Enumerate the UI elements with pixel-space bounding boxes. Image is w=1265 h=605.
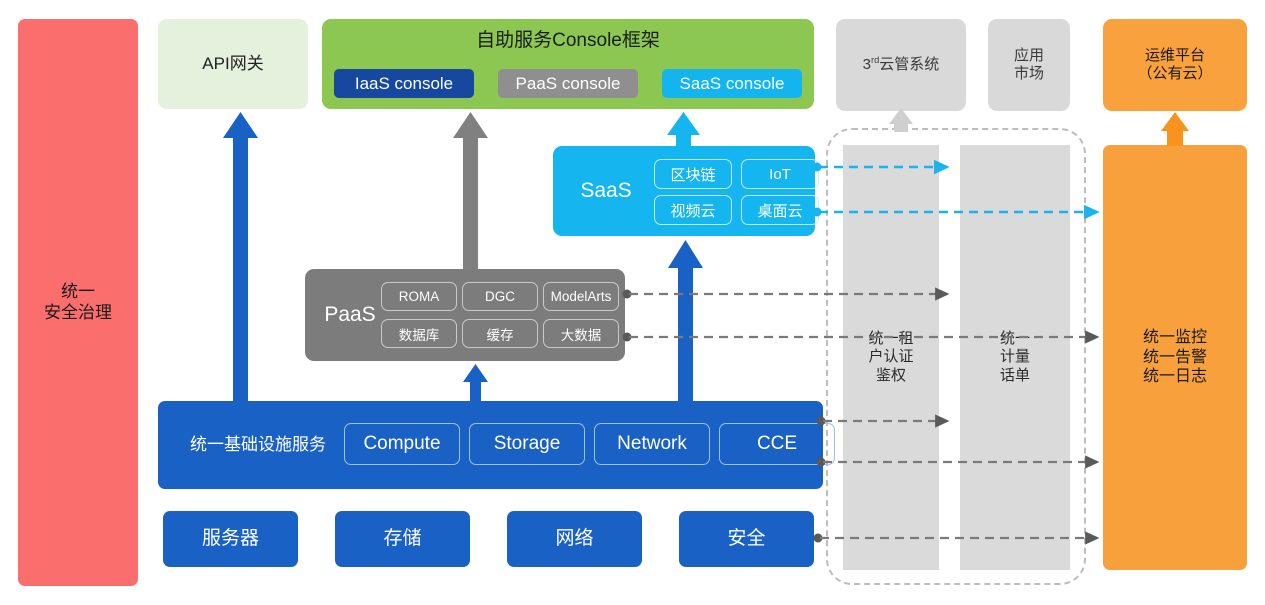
arrow-paas-to-console xyxy=(453,112,488,270)
paas-chip-dgc[interactable]: DGC xyxy=(462,282,538,311)
infra-chip-storage[interactable]: Storage xyxy=(469,423,585,465)
metering-line1: 统一 xyxy=(1000,330,1030,348)
arrow-infra-to-saas xyxy=(668,240,703,402)
paas-chip-bigdata[interactable]: 大数据 xyxy=(543,319,619,348)
saas-chip-desktop-cloud[interactable]: 桌面云 xyxy=(741,195,819,225)
infra-chip-storage-label: Storage xyxy=(494,433,561,455)
third-party-cloud-mgmt-box[interactable]: 3rd云管系统 xyxy=(836,19,966,111)
saas-layer-label: SaaS xyxy=(580,178,631,204)
paas-chip-roma-label: ROMA xyxy=(399,289,440,304)
api-gateway-label: API网关 xyxy=(202,54,263,75)
arrow-infra-to-api-gateway xyxy=(223,112,258,402)
paas-console-label: PaaS console xyxy=(516,74,621,94)
paas-layer-label: PaaS xyxy=(324,302,375,328)
iaas-console-button[interactable]: IaaS console xyxy=(334,69,474,98)
resource-box-server-label: 服务器 xyxy=(202,527,259,550)
paas-chip-roma[interactable]: ROMA xyxy=(381,282,457,311)
arrow-ops-panel-to-ops-platform xyxy=(1161,112,1189,146)
saas-chip-blockchain-label: 区块链 xyxy=(670,164,715,185)
paas-chip-modelarts[interactable]: ModelArts xyxy=(543,282,619,311)
resource-box-storage[interactable]: 存储 xyxy=(335,511,470,567)
infra-chip-cce-label: CCE xyxy=(757,433,797,455)
metering-line3: 话单 xyxy=(1000,367,1030,385)
third-party-cloud-mgmt-label: 3rd云管系统 xyxy=(863,55,940,74)
app-market-line2: 市场 xyxy=(1014,65,1044,83)
ops-platform-line2: （公有云） xyxy=(1137,65,1212,83)
resource-box-security-label: 安全 xyxy=(727,527,765,550)
resource-box-network-label: 网络 xyxy=(555,527,593,550)
security-panel-line1: 统一 xyxy=(44,282,112,303)
ops-platform-public-cloud-box[interactable]: 运维平台 （公有云） xyxy=(1103,19,1247,111)
iaas-console-label: IaaS console xyxy=(355,74,453,94)
tenant-auth-line2: 户认证 xyxy=(868,348,913,366)
tenant-auth-line1: 统一租 xyxy=(868,330,913,348)
paas-chip-modelarts-label: ModelArts xyxy=(551,289,612,304)
app-market-line1: 应用 xyxy=(1014,47,1044,65)
ops-platform-line1: 运维平台 xyxy=(1137,47,1212,65)
self-service-console-frame: 自助服务Console框架 IaaS console PaaS console … xyxy=(322,19,814,109)
security-panel-line2: 安全治理 xyxy=(44,303,112,324)
paas-chip-database[interactable]: 数据库 xyxy=(381,319,457,348)
ops-panel-line3: 统一日志 xyxy=(1143,367,1207,387)
paas-console-button[interactable]: PaaS console xyxy=(498,69,638,98)
app-market-box[interactable]: 应用 市场 xyxy=(988,19,1070,111)
saas-chip-blockchain[interactable]: 区块链 xyxy=(654,159,732,189)
saas-chip-iot[interactable]: IoT xyxy=(741,159,819,189)
infra-chip-cce[interactable]: CCE xyxy=(719,423,835,465)
paas-layer: PaaS ROMA DGC ModelArts 数据库 缓存 大数据 xyxy=(305,269,625,361)
paas-chip-database-label: 数据库 xyxy=(399,324,440,344)
infra-chip-compute-label: Compute xyxy=(363,433,440,455)
saas-chip-video-cloud[interactable]: 视频云 xyxy=(654,195,732,225)
unified-metering-billing-column: 统一 计量 话单 xyxy=(960,145,1070,570)
saas-chip-iot-label: IoT xyxy=(769,166,791,183)
resource-box-server[interactable]: 服务器 xyxy=(163,511,298,567)
resource-box-network[interactable]: 网络 xyxy=(507,511,642,567)
unified-infrastructure-service-layer: 统一基础设施服务 Compute Storage Network CCE xyxy=(158,401,823,489)
saas-console-label: SaaS console xyxy=(680,74,785,94)
ops-panel-line2: 统一告警 xyxy=(1143,348,1207,368)
console-frame-title: 自助服务Console框架 xyxy=(476,29,660,52)
paas-chip-bigdata-label: 大数据 xyxy=(561,324,602,344)
paas-chip-cache-label: 缓存 xyxy=(487,324,514,344)
ops-panel-line1: 统一监控 xyxy=(1143,328,1207,348)
saas-layer: SaaS 区块链 IoT 视频云 桌面云 xyxy=(553,146,815,236)
unified-ops-panel: 统一监控 统一告警 统一日志 xyxy=(1103,145,1247,570)
metering-line2: 计量 xyxy=(1000,348,1030,366)
infra-chip-compute[interactable]: Compute xyxy=(344,423,460,465)
infra-chip-network[interactable]: Network xyxy=(594,423,710,465)
arrow-saas-to-console xyxy=(667,112,700,148)
infra-chip-network-label: Network xyxy=(617,433,687,455)
saas-chip-desktop-cloud-label: 桌面云 xyxy=(757,200,802,221)
arrow-infra-to-paas xyxy=(463,364,488,402)
infra-layer-label: 统一基础设施服务 xyxy=(190,435,326,456)
tenant-auth-line3: 鉴权 xyxy=(868,367,913,385)
unified-tenant-auth-column: 统一租 户认证 鉴权 xyxy=(843,145,939,570)
resource-box-storage-label: 存储 xyxy=(383,527,421,550)
paas-chip-dgc-label: DGC xyxy=(485,289,515,304)
saas-console-button[interactable]: SaaS console xyxy=(662,69,802,98)
api-gateway-box[interactable]: API网关 xyxy=(158,19,308,109)
architecture-diagram: 统一 安全治理 API网关 自助服务Console框架 IaaS console… xyxy=(0,0,1265,605)
paas-chip-cache[interactable]: 缓存 xyxy=(462,319,538,348)
resource-box-security[interactable]: 安全 xyxy=(679,511,814,567)
saas-chip-video-cloud-label: 视频云 xyxy=(670,200,715,221)
unified-security-governance-panel: 统一 安全治理 xyxy=(18,19,138,586)
